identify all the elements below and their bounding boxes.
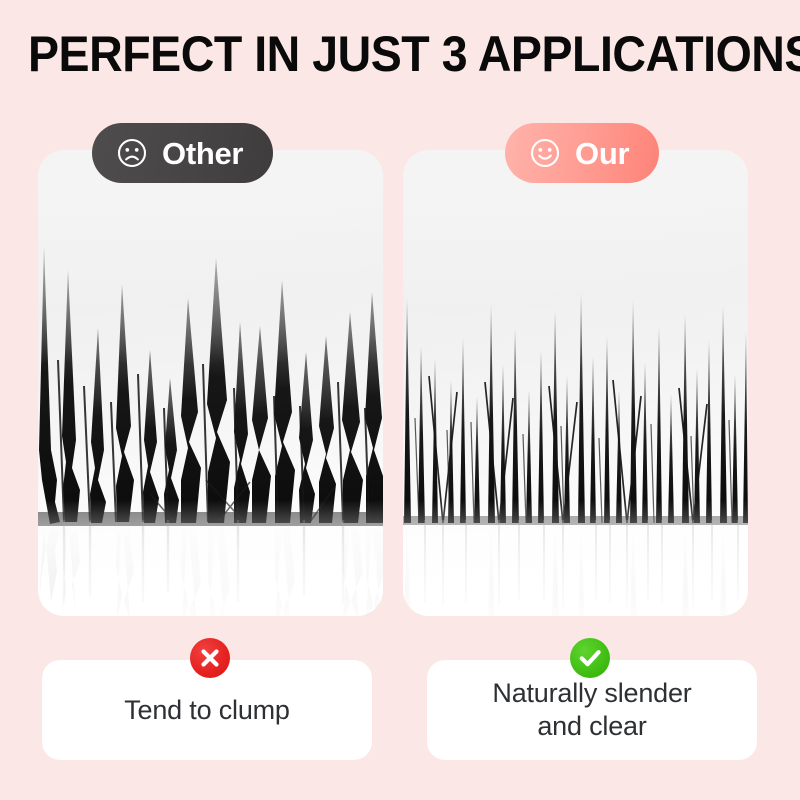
status-badge-check — [570, 638, 610, 678]
page-title: PERFECT IN JUST 3 APPLICATIONS — [28, 26, 772, 82]
caption-our-text: Naturally slenderand clear — [478, 677, 705, 743]
caption-our-line2: and clear — [537, 711, 646, 741]
caption-other-text: Tend to clump — [110, 694, 304, 727]
badge-our-label: Our — [575, 138, 629, 169]
caption-our-line1: Naturally slender — [492, 678, 691, 708]
badge-other: Other — [92, 123, 273, 183]
badge-our: Our — [505, 123, 659, 183]
smiley-face-icon — [529, 137, 561, 169]
sad-face-icon — [116, 137, 148, 169]
comparison-panel-our — [403, 150, 748, 616]
lash-photo-other — [38, 150, 383, 616]
comparison-panel-other — [38, 150, 383, 616]
lash-photo-our — [403, 150, 748, 616]
badge-other-label: Other — [162, 138, 243, 169]
comparison-panels — [38, 150, 765, 616]
status-badge-cross — [190, 638, 230, 678]
